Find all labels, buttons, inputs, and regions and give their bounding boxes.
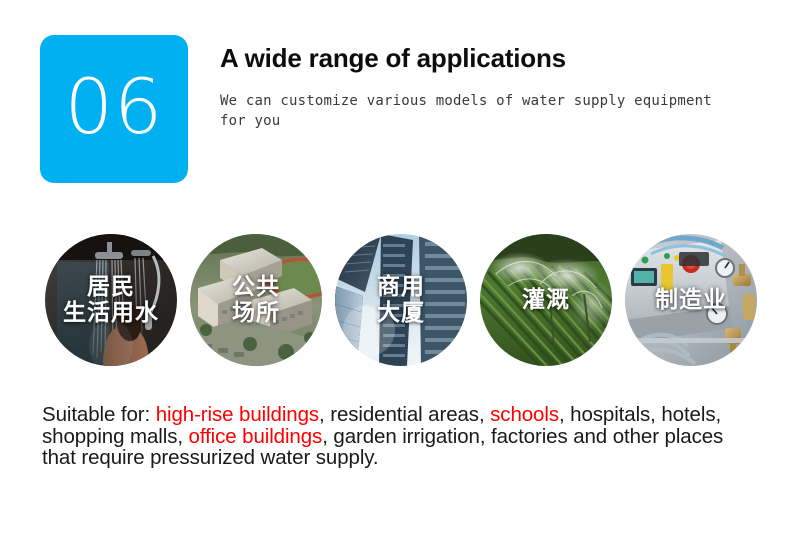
circle-label-residential: 居民 生活用水 — [45, 234, 177, 366]
footer-highlight-schools: schools — [490, 403, 559, 426]
application-circles-row: 居民 生活用水 — [0, 234, 790, 370]
circle-label-line1: 公共 — [232, 274, 280, 300]
circle-label-manufacturing: 制造业 — [625, 234, 757, 366]
application-circle-commercial-building: 商用 大厦 — [335, 234, 467, 366]
circle-label-line1: 灌溉 — [522, 287, 570, 313]
footer-highlight-high-rise: high-rise buildings — [156, 403, 319, 426]
step-number-text: 06 — [65, 69, 164, 145]
footer-lead: Suitable for: — [42, 403, 156, 426]
circle-label-line2: 生活用水 — [63, 300, 159, 326]
circle-label-line1: 制造业 — [655, 287, 727, 313]
circle-label-line2: 场所 — [232, 300, 280, 326]
circle-label-line1: 商用 — [377, 274, 425, 300]
suitable-for-paragraph: Suitable for: high-rise buildings, resid… — [42, 404, 757, 469]
footer-highlight-office-buildings: office buildings — [189, 425, 323, 448]
application-circle-irrigation: 灌溉 — [480, 234, 612, 366]
circle-label-public-places: 公共 场所 — [190, 234, 322, 366]
step-number-badge: 06 — [40, 35, 188, 183]
page-title: A wide range of applications — [220, 43, 566, 74]
circle-label-line1: 居民 — [87, 274, 135, 300]
footer-segment-2: , residential areas, — [319, 403, 490, 426]
application-circle-residential: 居民 生活用水 — [45, 234, 177, 366]
circle-label-commercial-building: 商用 大厦 — [335, 234, 467, 366]
circle-label-irrigation: 灌溉 — [480, 234, 612, 366]
application-circle-public-places: 公共 场所 — [190, 234, 322, 366]
application-circle-manufacturing: 制造业 — [625, 234, 757, 366]
page-subtitle: We can customize various models of water… — [220, 92, 720, 131]
circle-label-line2: 大厦 — [377, 300, 425, 326]
header-section: 06 A wide range of applications We can c… — [0, 0, 790, 200]
